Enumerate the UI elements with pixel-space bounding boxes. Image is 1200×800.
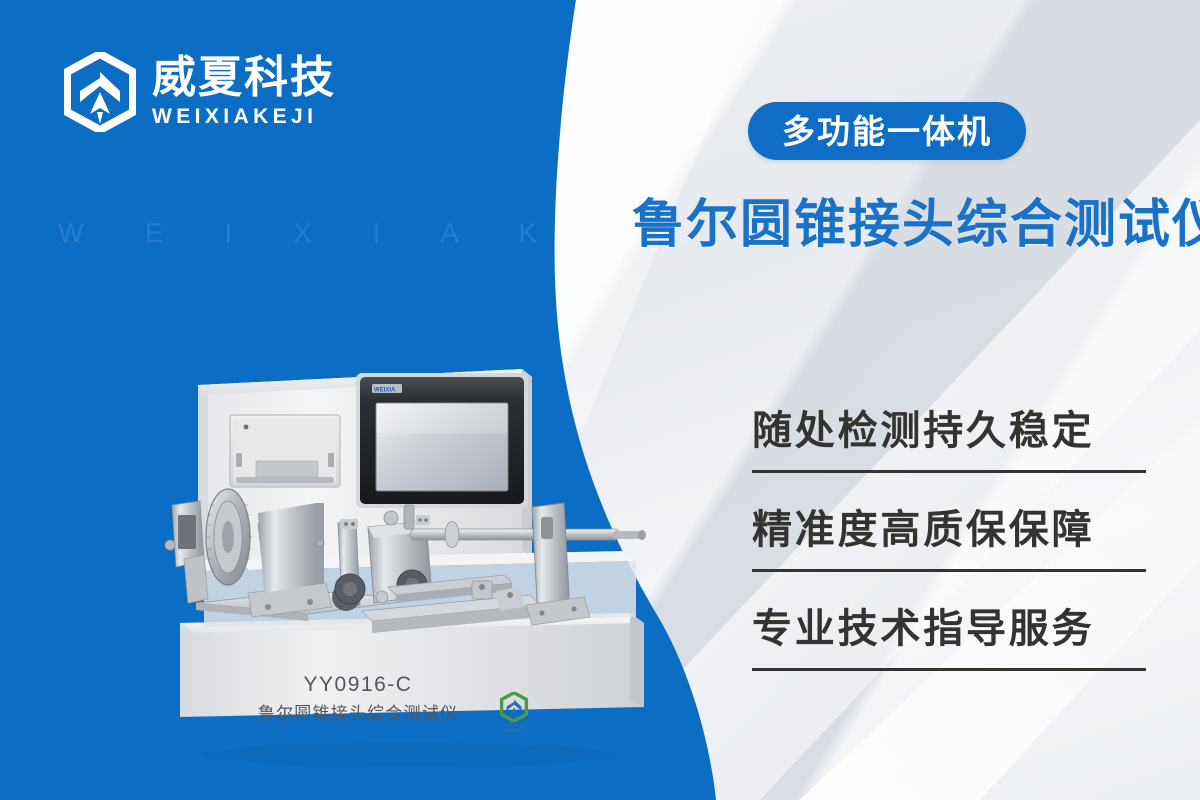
brand-name-cn: 威夏科技 (152, 55, 336, 101)
feature-item-3: 专业技术指导服务 (752, 596, 1146, 671)
hmi-touchscreen: WEIXIA (356, 373, 528, 508)
feature-item-1: 随处检测持久稳定 (752, 398, 1146, 473)
feature-label: 专业技术指导服务 (752, 596, 1146, 662)
brand-logo-lockup: 威夏科技 WEIXIAKEJI (64, 52, 336, 132)
machine-front-label: YY0916-C 鲁尔圆锥接头综合测试仪 (188, 673, 528, 727)
hero-badge: 多功能一体机 (748, 102, 1026, 160)
machine-badge-name-en: WEIXIAKEJI (492, 729, 536, 733)
product-banner: W E I X I A K E J I 威夏科技 WEIXIAKEJI 多功能一… (0, 0, 1200, 800)
feature-label: 精准度高质保保障 (752, 497, 1146, 563)
feature-divider (752, 569, 1146, 572)
feature-divider (752, 668, 1146, 671)
brand-name-en: WEIXIAKEJI (152, 104, 336, 129)
rail-clamp (496, 587, 524, 611)
feature-list: 随处检测持久稳定 精准度高质保保障 专业技术指导服务 (752, 398, 1146, 695)
hexagon-arrow-logo-icon (64, 52, 136, 132)
hero-badge-label: 多功能一体机 (782, 115, 992, 148)
machine-model-name: 鲁尔圆锥接头综合测试仪 (188, 700, 528, 727)
machine-badge-hexagon-icon (499, 692, 529, 722)
product-title: 鲁尔圆锥接头综合测试仪 (632, 196, 1200, 256)
machine-model-code: YY0916-C (188, 673, 528, 697)
brand-logo-text: 威夏科技 WEIXIAKEJI (152, 55, 336, 129)
feature-item-2: 精准度高质保保障 (752, 497, 1146, 572)
access-panel (230, 415, 340, 487)
feature-label: 随处检测持久稳定 (752, 398, 1146, 464)
feature-divider (752, 470, 1146, 473)
machine-front-badge: 威夏科技 WEIXIAKEJI (492, 692, 536, 738)
hmi-brand-label: WEIXIA (374, 388, 396, 394)
